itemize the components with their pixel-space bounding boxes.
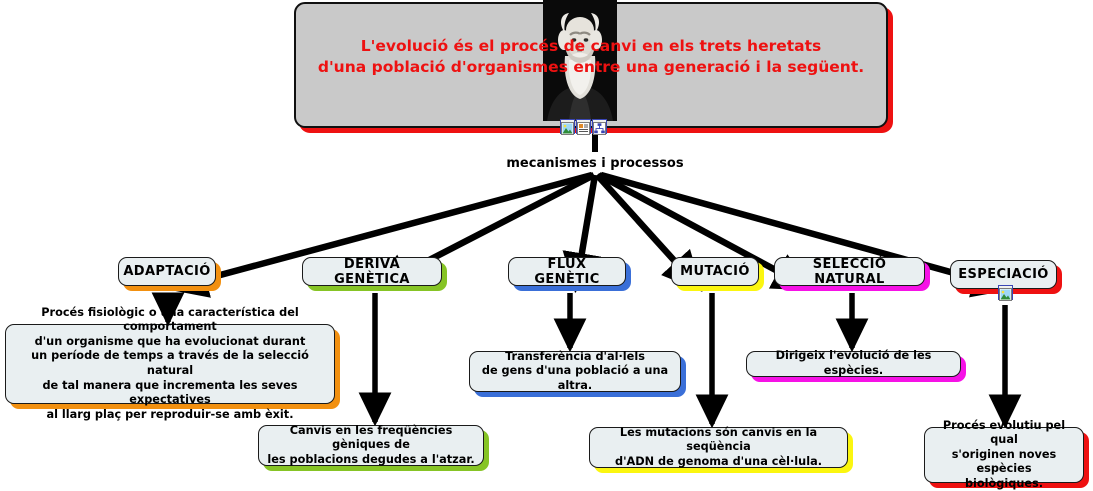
mechanism-label: ADAPTACIÓ (123, 264, 210, 279)
description-node-seleccio-natural: Dirigeix l'evolució de les espècies. (746, 351, 961, 377)
description-node-adaptacio: Procés fisiològic o una característica d… (5, 324, 335, 404)
concept-map-canvas: L'evolució és el procés de canvi en els … (0, 0, 1093, 491)
mechanism-node-adaptacio[interactable]: ADAPTACIÓ (118, 257, 216, 286)
note-icon[interactable] (576, 119, 591, 134)
hub-label: mecanismes i processos (480, 156, 710, 171)
description-text: Transferència d'al·lels de gens d'una po… (478, 350, 672, 394)
mechanism-node-deriva-genetica[interactable]: DERIVA GENÈTICA (302, 257, 442, 286)
mechanism-node-flux-genetic[interactable]: FLUX GENÈTIC (508, 257, 626, 286)
description-node-deriva-genetica: Canvis en les freqüències gèniques de le… (258, 425, 484, 466)
description-text: Dirigeix l'evolució de les espècies. (755, 349, 952, 378)
root-node-title: L'evolució és el procés de canvi en els … (294, 36, 888, 78)
description-node-mutacio: Les mutacions són canvis en la seqüència… (589, 427, 848, 468)
description-node-especiacio: Procés evolutiu pel qual s'originen nove… (924, 427, 1084, 483)
description-node-flux-genetic: Transferència d'al·lels de gens d'una po… (469, 351, 681, 392)
mechanism-label: MUTACIÓ (680, 264, 750, 279)
image-icon[interactable] (998, 285, 1013, 300)
mechanism-label: ESPECIACIÓ (958, 267, 1049, 282)
mechanism-label: FLUX GENÈTIC (515, 257, 619, 287)
mechanism-node-seleccio-natural[interactable]: SELECCIÓ NATURAL (774, 257, 925, 286)
description-text: Procés fisiològic o una característica d… (14, 306, 326, 423)
description-text: Canvis en les freqüències gèniques de le… (267, 424, 475, 468)
mechanism-node-mutacio[interactable]: MUTACIÓ (671, 257, 759, 286)
description-text: Procés evolutiu pel qual s'originen nove… (933, 419, 1075, 491)
image-icon[interactable] (560, 119, 575, 134)
concept-map-icon[interactable] (592, 119, 607, 134)
description-text: Les mutacions són canvis en la seqüència… (598, 426, 839, 470)
root-icon-strip[interactable] (560, 119, 607, 134)
mechanism-label: DERIVA GENÈTICA (309, 257, 435, 287)
mechanism-label: SELECCIÓ NATURAL (781, 257, 918, 287)
